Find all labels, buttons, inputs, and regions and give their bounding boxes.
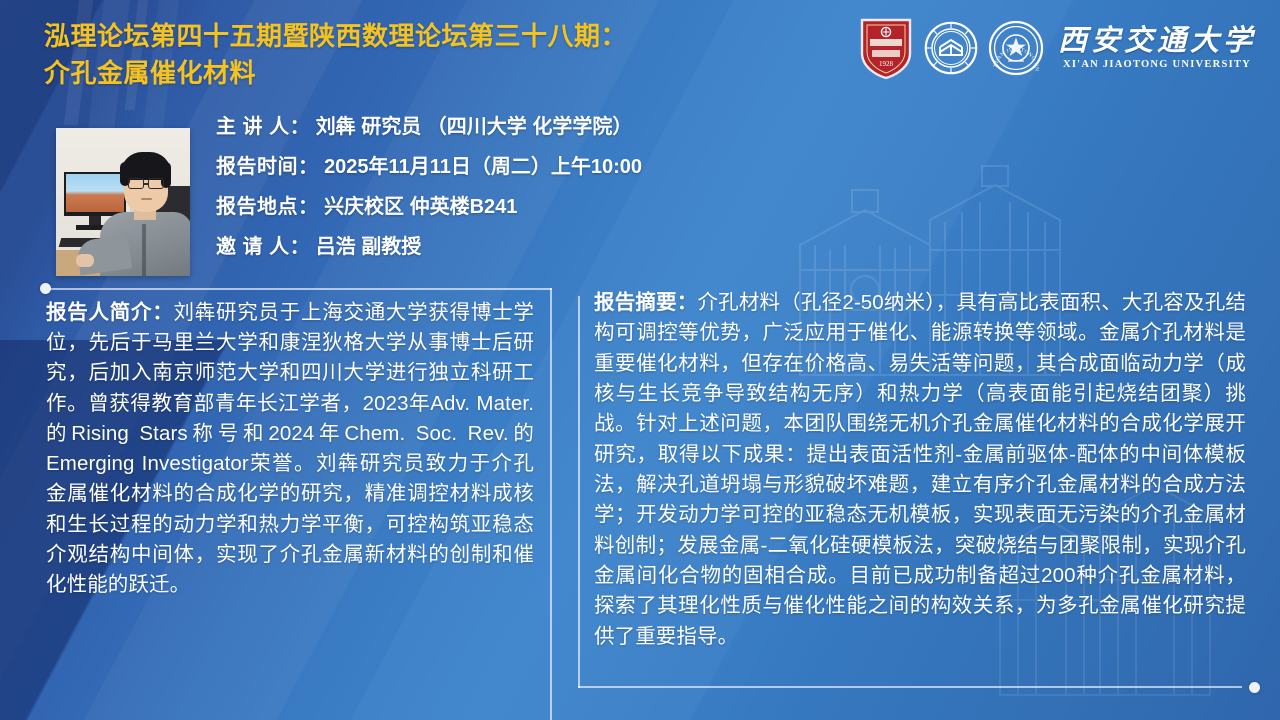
svg-text:1928: 1928: [879, 60, 894, 68]
detail-row-host: 邀 请 人： 吕浩 副教授: [216, 236, 1016, 258]
title-line-1: 泓理论坛第四十五期暨陕西数理论坛第三十八期：: [44, 18, 884, 55]
abstract-panel: 报告摘要：介孔材料（孔径2-50纳米），具有高比表面积、大孔容及孔结构可调控等优…: [578, 288, 1258, 688]
bio-heading: 报告人简介：: [46, 301, 173, 324]
xjtu-physics-college-shield-icon: 1928: [858, 15, 914, 81]
panel-rule-bottom: [578, 686, 1242, 688]
xjtu-seal-icon: XI'AN JIAOTONG UNIVERSITY: [988, 20, 1044, 76]
detail-row-time: 报告时间： 2025年11月11日（周二）上午10:00: [216, 156, 1016, 178]
abstract-text: 介孔材料（孔径2-50纳米），具有高比表面积、大孔容及孔结构可调控等优势，广泛应…: [594, 291, 1246, 648]
bio-paragraph: 报告人简介：刘犇研究员于上海交通大学获得博士学位，先后于马里兰大学和康涅狄格大学…: [46, 298, 534, 600]
title-line-2: 介孔金属催化材料: [44, 55, 884, 92]
shaanxi-institute-emblem-icon: [924, 21, 978, 75]
detail-label-time: 报告时间：: [216, 156, 319, 178]
page-title: 泓理论坛第四十五期暨陕西数理论坛第三十八期： 介孔金属催化材料: [44, 18, 884, 92]
detail-value-speaker: 刘犇 研究员 （四川大学 化学学院）: [316, 116, 633, 138]
panel-rule-side: [578, 296, 580, 688]
panel-rule-top: [44, 288, 552, 290]
bio-text: 刘犇研究员于上海交通大学获得博士学位，先后于马里兰大学和康涅狄格大学从事博士后研…: [46, 301, 534, 596]
logo-bar: 1928 XI'AN JIAOTON: [858, 12, 1256, 84]
detail-row-location: 报告地点： 兴庆校区 仲英楼B241: [216, 196, 1016, 218]
detail-label-speaker: 主 讲 人：: [216, 116, 310, 138]
abstract-paragraph: 报告摘要：介孔材料（孔径2-50纳米），具有高比表面积、大孔容及孔结构可调控等优…: [594, 288, 1246, 652]
detail-label-host: 邀 请 人：: [216, 236, 310, 258]
detail-value-location: 兴庆校区 仲英楼B241: [324, 196, 517, 218]
seminar-details: 主 讲 人： 刘犇 研究员 （四川大学 化学学院） 报告时间： 2025年11月…: [216, 116, 1016, 276]
panel-rule-side: [550, 288, 552, 720]
detail-label-location: 报告地点：: [216, 196, 319, 218]
wordmark-english: XI'AN JIAOTONG UNIVERSITY: [1063, 59, 1251, 70]
detail-row-speaker: 主 讲 人： 刘犇 研究员 （四川大学 化学学院）: [216, 116, 1016, 138]
panel-corner-dot: [40, 283, 51, 294]
abstract-heading: 报告摘要：: [594, 291, 697, 314]
detail-value-time: 2025年11月11日（周二）上午10:00: [324, 156, 642, 178]
wordmark-chinese: 西安交通大学: [1058, 26, 1256, 56]
speaker-portrait-photo: [56, 128, 190, 276]
detail-value-host: 吕浩 副教授: [316, 236, 422, 258]
seminar-poster: 泓理论坛第四十五期暨陕西数理论坛第三十八期： 介孔金属催化材料 1928: [0, 0, 1280, 720]
speaker-bio-panel: 报告人简介：刘犇研究员于上海交通大学获得博士学位，先后于马里兰大学和康涅狄格大学…: [24, 288, 552, 720]
university-wordmark: 西安交通大学 XI'AN JIAOTONG UNIVERSITY: [1058, 26, 1256, 69]
panel-corner-dot: [1249, 682, 1260, 693]
